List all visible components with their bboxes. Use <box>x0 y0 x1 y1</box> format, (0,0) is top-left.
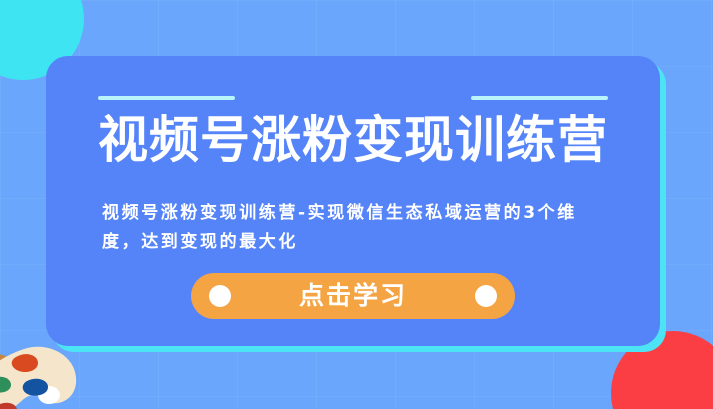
divider-line-right <box>471 96 608 100</box>
promo-card: 视频号涨粉变现训练营 视频号涨粉变现训练营-实现微信生态私域运营的3个维度，达到… <box>46 56 660 346</box>
click-to-learn-label: 点击学习 <box>299 273 407 319</box>
divider-row <box>46 96 660 100</box>
promo-poster: 视频号涨粉变现训练营 视频号涨粉变现训练营-实现微信生态私域运营的3个维度，达到… <box>0 0 713 409</box>
click-to-learn-button[interactable]: 点击学习 <box>191 273 515 319</box>
dot-left-icon <box>209 285 231 307</box>
poster-title: 视频号涨粉变现训练营 <box>46 110 660 170</box>
divider-line-left <box>98 96 235 100</box>
poster-subtitle: 视频号涨粉变现训练营-实现微信生态私域运营的3个维度，达到变现的最大化 <box>102 199 604 257</box>
dot-right-icon <box>475 285 497 307</box>
